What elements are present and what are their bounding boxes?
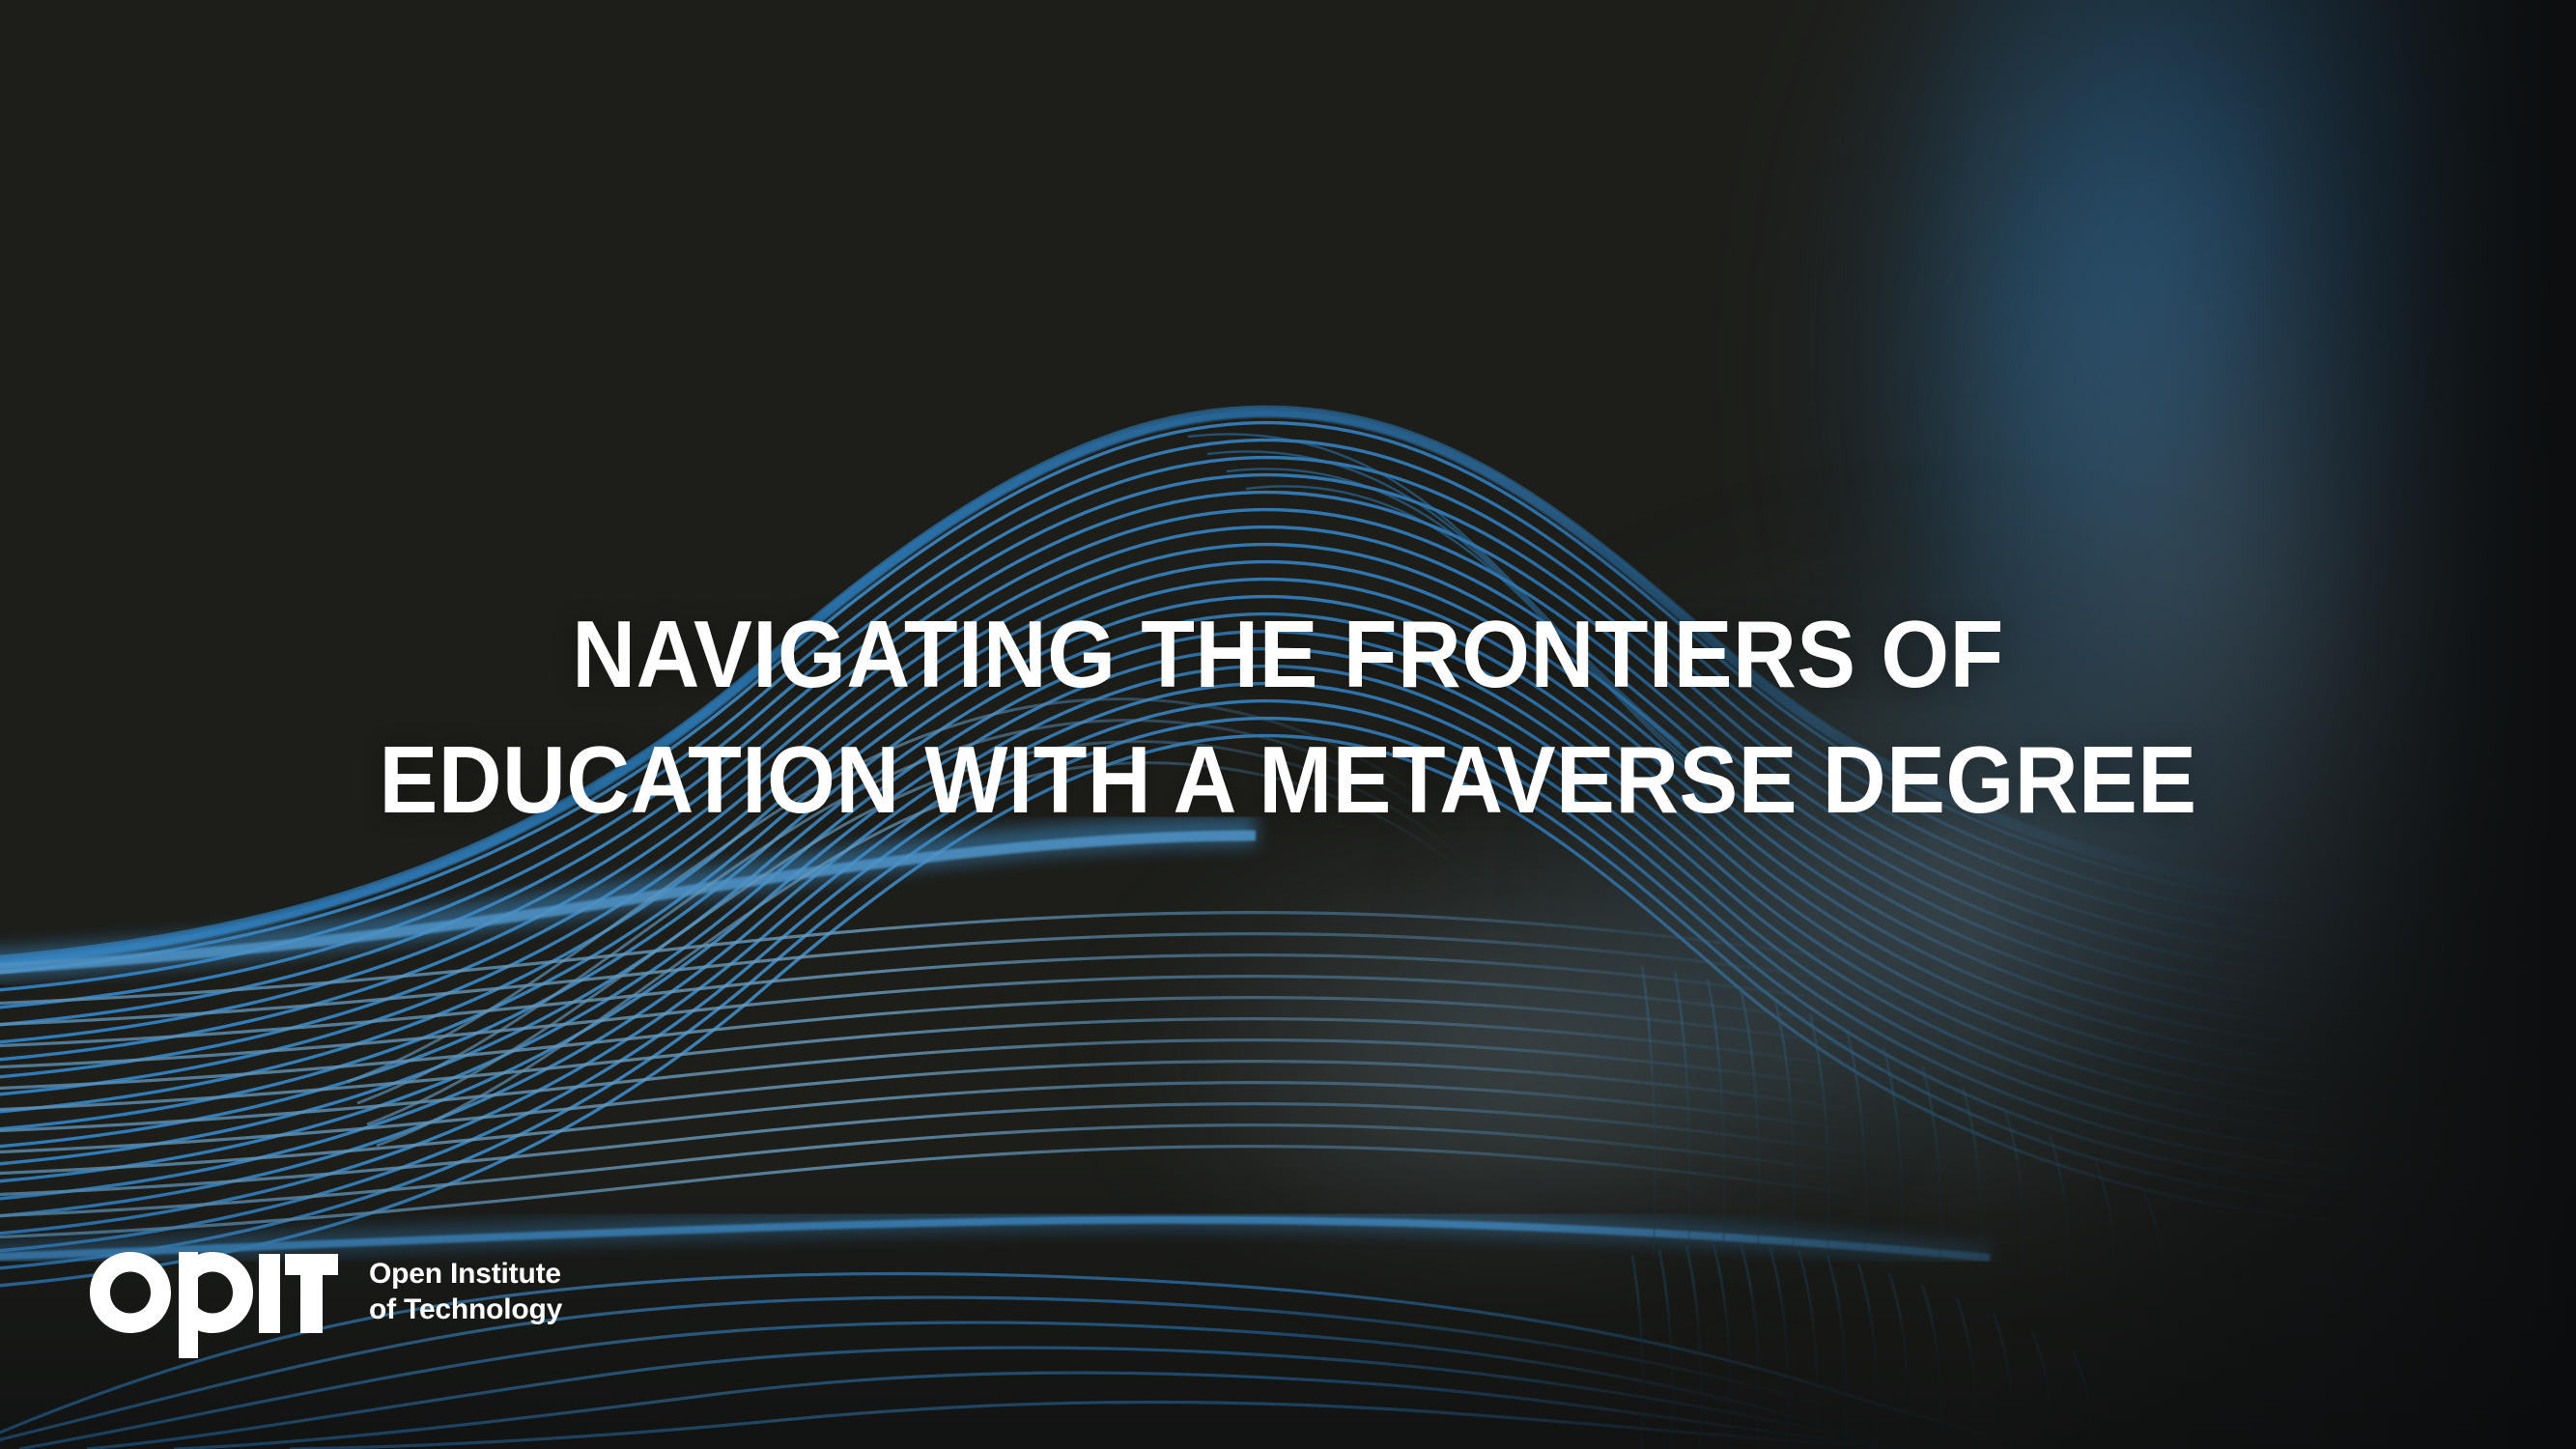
opit-wordmark-icon <box>89 1244 338 1360</box>
banner-headline: NAVIGATING THE FRONTIERS OF EDUCATION WI… <box>90 591 2485 842</box>
opit-logo[interactable]: Open Institute of Technology <box>89 1244 562 1360</box>
banner-canvas: NAVIGATING THE FRONTIERS OF EDUCATION WI… <box>0 0 2576 1449</box>
headline-line-2: EDUCATION WITH A METAVERSE DEGREE <box>90 717 2485 842</box>
opit-tagline: Open Institute of Technology <box>369 1244 562 1327</box>
opit-tagline-line-2: of Technology <box>369 1292 562 1327</box>
opit-tagline-line-1: Open Institute <box>369 1256 562 1292</box>
headline-line-1: NAVIGATING THE FRONTIERS OF <box>90 591 2485 717</box>
